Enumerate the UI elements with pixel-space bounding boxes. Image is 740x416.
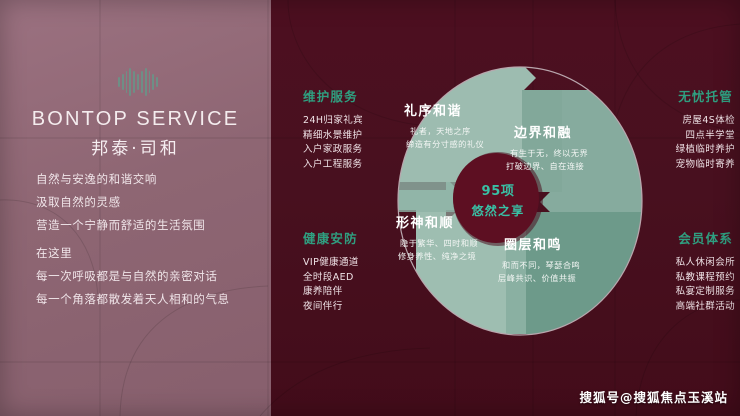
brand-name-english: BONTOP SERVICE: [0, 108, 271, 131]
slogan-line: 营造一个宁静而舒适的生活氛围: [36, 218, 266, 233]
brand-slogan: 自然与安逸的和谐交响 汲取自然的灵感 营造一个宁静而舒适的生活氛围 在这里 每一…: [36, 172, 266, 315]
slogan-line: 每一个角落都散发着天人相和的气息: [36, 292, 266, 307]
brand-name-chinese: 邦泰·司和: [0, 134, 271, 159]
quadrant-title: 礼序和谐: [404, 100, 484, 119]
slogan-line: 在这里: [36, 246, 266, 261]
service-count: 95项: [482, 180, 515, 199]
watermark: 搜狐号@搜狐焦点玉溪站: [579, 387, 728, 406]
slogan-line: 自然与安逸的和谐交响: [36, 172, 266, 187]
service-wheel-diagram: 礼序和谐 礼者，天地之序 缔造有分寸感的礼仪 边界和融 有生于无，终以无界 打破…: [386, 62, 654, 340]
slide-canvas: BONTOP SERVICE 邦泰·司和 自然与安逸的和谐交响 汲取自然的灵感 …: [0, 0, 740, 416]
bars-hourglass-icon: [118, 66, 158, 98]
quadrant-line: 层峰共识、价值共振: [498, 272, 580, 285]
slogan-line: 汲取自然的灵感: [36, 195, 266, 210]
quadrant-bottom-right: 圈层和鸣 和而不同，琴瑟合鸣 层峰共识、价值共振: [504, 234, 580, 284]
brand-pane: BONTOP SERVICE 邦泰·司和 自然与安逸的和谐交响 汲取自然的灵感 …: [0, 0, 271, 416]
service-count-label: 悠然之享: [472, 202, 525, 219]
quadrant-top-left: 礼序和谐 礼者，天地之序 缔造有分寸感的礼仪: [404, 100, 484, 150]
quadrant-line: 礼者，天地之序: [410, 125, 484, 138]
quadrant-title: 边界和融: [514, 122, 588, 141]
quadrant-line: 修身养性、纯净之境: [398, 250, 478, 263]
quadrant-line: 缔造有分寸感的礼仪: [406, 138, 484, 151]
wheel-center-label: 95项 悠然之享: [459, 158, 537, 240]
quadrant-line: 和而不同，琴瑟合鸣: [502, 259, 580, 272]
slogan-line: 每一次呼吸都是与自然的亲密对话: [36, 269, 266, 284]
